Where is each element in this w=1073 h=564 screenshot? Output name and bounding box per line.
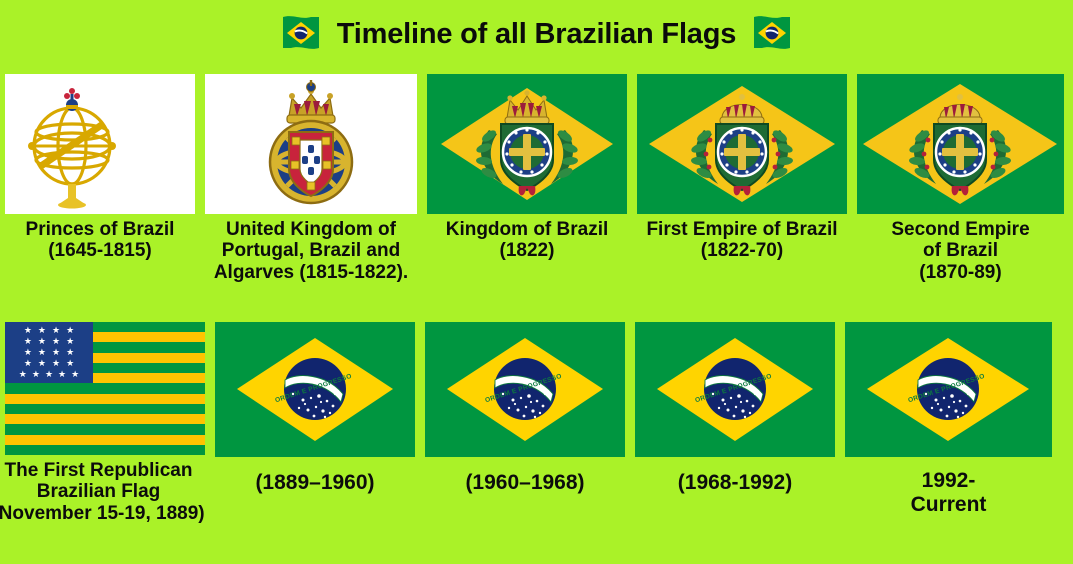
flag-brazil-1960-1968: ORDEM E PROGRESSO	[425, 322, 625, 457]
imperial-arms-icon	[427, 74, 627, 214]
flag-caption: (1968-1992)	[634, 471, 836, 495]
flag-card-second-empire-of-brazil[interactable]: Second Empire of Brazil (1870-89)	[856, 74, 1065, 283]
row-two: ★★★★ ★★★★ ★★★★ ★★★★ ★★★★★ The First Repu…	[4, 322, 1069, 524]
row-one: Princes of Brazil (1645-1815)	[4, 74, 1069, 283]
flag-caption: (1960–1968)	[424, 471, 626, 495]
canton-stars: ★★★★ ★★★★ ★★★★ ★★★★ ★★★★★	[5, 322, 93, 383]
flag-caption: (1889–1960)	[214, 471, 416, 495]
page-title: Timeline of all Brazilian Flags	[337, 18, 736, 51]
flag-card-brazil-1889-1960[interactable]: ORDEM E PROGRESSO (1889–1960)	[214, 322, 416, 495]
flag-princes-of-brazil	[5, 74, 195, 214]
brazil-globe-icon: ORDEM E PROGRESSO	[845, 322, 1052, 457]
imperial-arms-icon	[637, 74, 847, 214]
portuguese-royal-arms-icon	[205, 74, 417, 214]
flag-card-brazil-1992-current[interactable]: ORDEM E PROGRESSO 1992- Current	[844, 322, 1053, 516]
flag-caption: First Empire of Brazil (1822-70)	[636, 219, 848, 262]
flag-caption: United Kingdom of Portugal, Brazil and A…	[204, 219, 418, 283]
flag-caption: Second Empire of Brazil (1870-89)	[856, 219, 1065, 283]
flag-first-empire-of-brazil	[637, 74, 847, 214]
armillary-sphere-icon	[5, 74, 195, 214]
flag-first-republican-brazilian: ★★★★ ★★★★ ★★★★ ★★★★ ★★★★★	[5, 322, 205, 455]
imperial-arms-icon	[857, 74, 1064, 214]
flag-caption: 1992- Current	[844, 469, 1053, 516]
brazil-waving-flag-icon	[750, 14, 794, 54]
flag-second-empire-of-brazil	[857, 74, 1064, 214]
brazil-waving-flag-icon	[279, 14, 323, 54]
flag-kingdom-of-brazil	[427, 74, 627, 214]
brazil-globe-icon: ORDEM E PROGRESSO	[425, 322, 625, 457]
flag-card-first-empire-of-brazil[interactable]: First Empire of Brazil (1822-70)	[636, 74, 848, 262]
flag-brazil-1992-current: ORDEM E PROGRESSO	[845, 322, 1052, 457]
flag-card-united-kingdom-of-portugal-brazil-algarves[interactable]: United Kingdom of Portugal, Brazil and A…	[204, 74, 418, 283]
flag-united-kingdom-of-portugal-brazil-algarves	[205, 74, 417, 214]
brazil-globe-icon: ORDEM E PROGRESSO	[635, 322, 835, 457]
flag-card-brazil-1968-1992[interactable]: ORDEM E PROGRESSO (1968-1992)	[634, 322, 836, 495]
flag-card-kingdom-of-brazil[interactable]: Kingdom of Brazil (1822)	[426, 74, 628, 262]
flag-caption: The First Republican Brazilian Flag (Nov…	[0, 460, 212, 524]
header: Timeline of all Brazilian Flags	[0, 0, 1073, 68]
brazil-globe-icon: ORDEM E PROGRESSO	[215, 322, 415, 457]
flag-card-first-republican-brazilian[interactable]: ★★★★ ★★★★ ★★★★ ★★★★ ★★★★★ The First Repu…	[4, 322, 206, 524]
flag-caption: Kingdom of Brazil (1822)	[426, 219, 628, 262]
flag-card-brazil-1960-1968[interactable]: ORDEM E PROGRESSO (1960–1968)	[424, 322, 626, 495]
flag-card-princes-of-brazil[interactable]: Princes of Brazil (1645-1815)	[4, 74, 196, 262]
flag-caption: Princes of Brazil (1645-1815)	[4, 219, 196, 262]
flag-brazil-1889-1960: ORDEM E PROGRESSO	[215, 322, 415, 457]
flag-brazil-1968-1992: ORDEM E PROGRESSO	[635, 322, 835, 457]
timeline-poster: Timeline of all Brazilian Flags	[0, 0, 1073, 564]
